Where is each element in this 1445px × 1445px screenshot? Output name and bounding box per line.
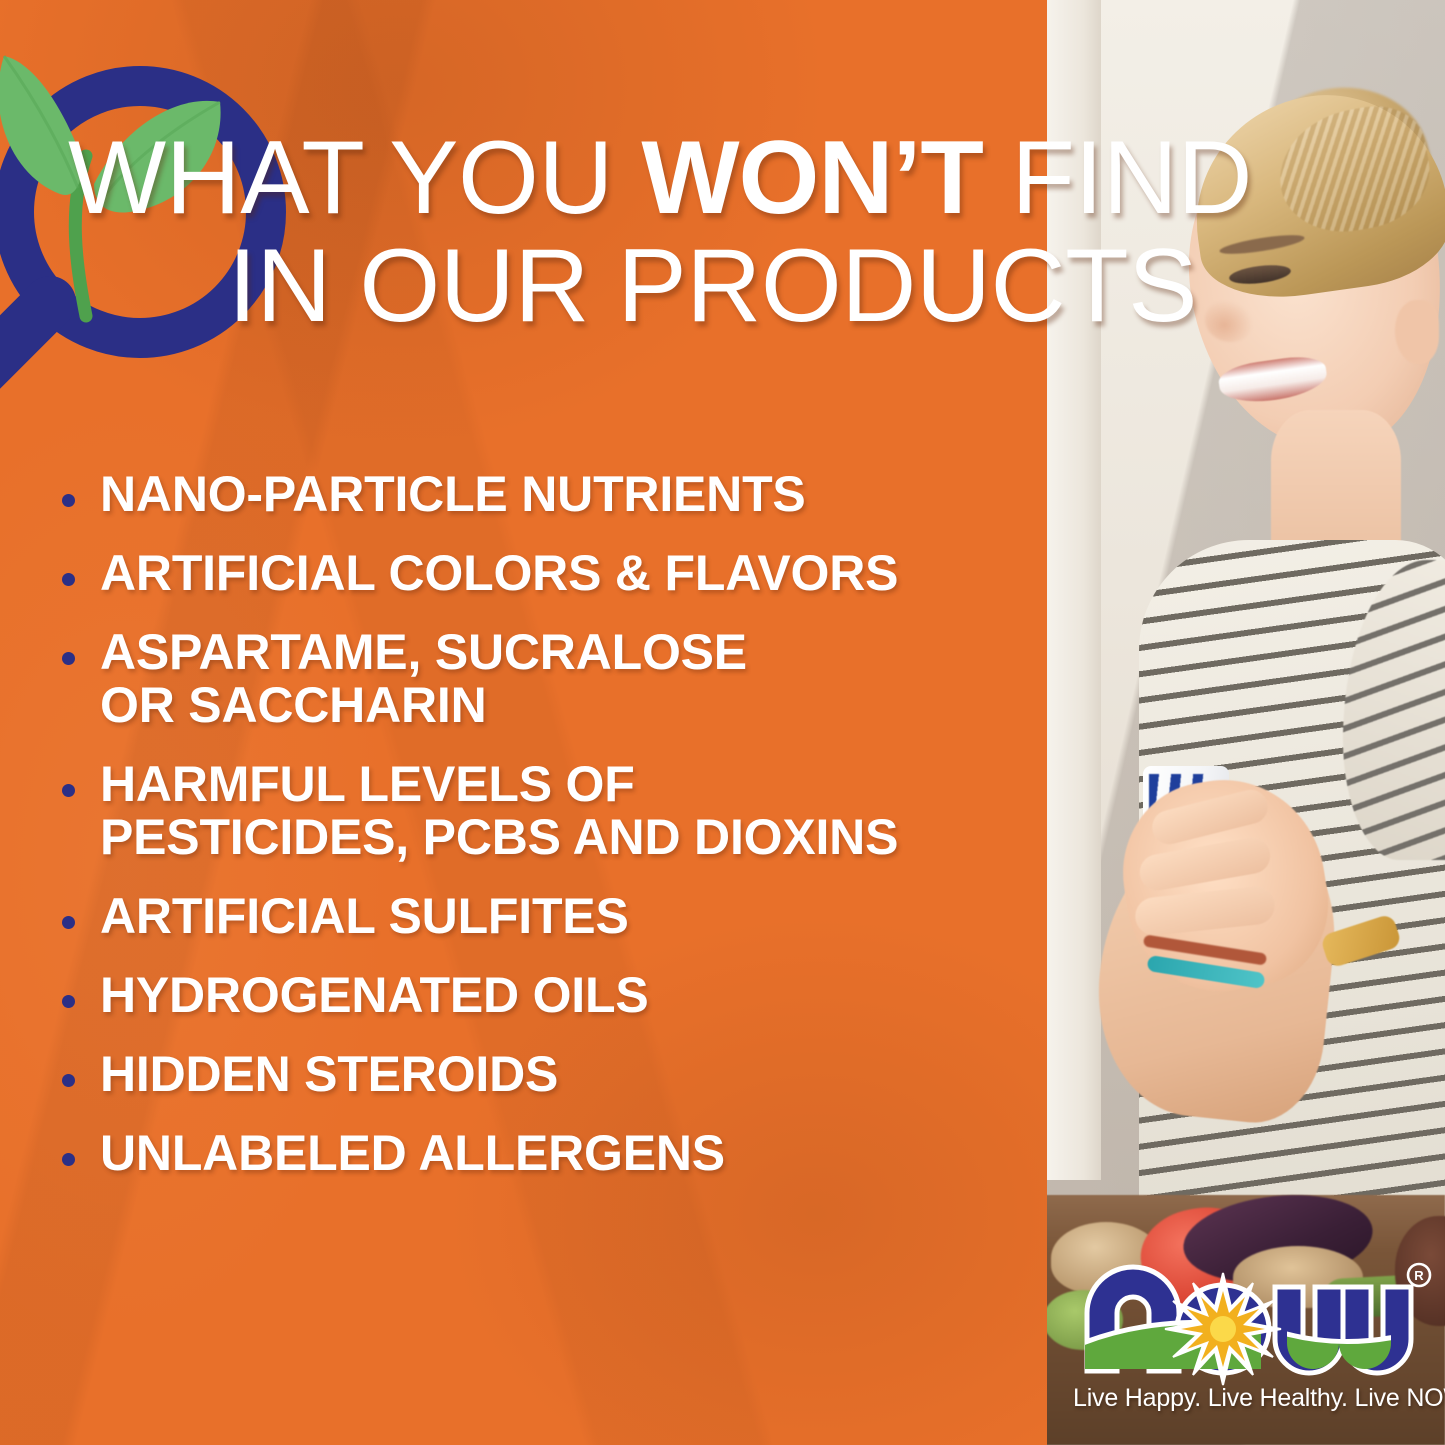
list-item: ARTIFICIAL COLORS & FLAVORS [62,547,1042,600]
list-item-label: HARMFUL LEVELS OF PESTICIDES, PCBS AND D… [100,758,898,864]
list-item: NANO-PARTICLE NUTRIENTS [62,468,1042,521]
list-item-label: NANO-PARTICLE NUTRIENTS [100,468,806,521]
list-item-label: HIDDEN STEROIDS [100,1048,558,1101]
list-item-label: ARTIFICIAL COLORS & FLAVORS [100,547,898,600]
marketing-banner: WHAT YOU WON’T FIND IN OUR PRODUCTS NANO… [0,0,1445,1445]
brand-tagline: Live Happy. Live Healthy. Live NOW. [1073,1384,1433,1413]
headline-part-b: FIND [983,120,1252,236]
now-foods-logo: R Live Happy. Live Healthy. Live NOW. [1073,1251,1433,1421]
list-item: ASPARTAME, SUCRALOSE OR SACCHARIN [62,626,1042,732]
bullet-dot-icon [62,573,75,586]
bullet-dot-icon [62,652,75,665]
registered-trademark-icon: R [1408,1264,1430,1286]
headline-emphasis: WON’T [641,120,983,236]
list-item: HARMFUL LEVELS OF PESTICIDES, PCBS AND D… [62,758,1042,864]
bullet-dot-icon [62,1074,75,1087]
list-item-label: HYDROGENATED OILS [100,969,648,1022]
bullet-dot-icon [62,1153,75,1166]
bullet-dot-icon [62,494,75,507]
now-wordmark: R [1073,1251,1433,1391]
list-item-label: UNLABELED ALLERGENS [100,1127,725,1180]
list-item: HIDDEN STEROIDS [62,1048,1042,1101]
page-title: WHAT YOU WON’T FIND IN OUR PRODUCTS [0,132,1390,333]
excluded-ingredients-list: NANO-PARTICLE NUTRIENTS ARTIFICIAL COLOR… [62,468,1042,1206]
headline-line-1: WHAT YOU WON’T FIND [0,132,1390,226]
bullet-dot-icon [62,784,75,797]
list-item: UNLABELED ALLERGENS [62,1127,1042,1180]
list-item-label: ARTIFICIAL SULFITES [100,890,629,943]
list-item-label: ASPARTAME, SUCRALOSE OR SACCHARIN [100,626,747,732]
bullet-dot-icon [62,995,75,1008]
headline-part-a: WHAT YOU [68,120,641,236]
photo-ear [1395,300,1439,364]
headline-line-2: IN OUR PRODUCTS [0,240,1390,334]
list-item: HYDROGENATED OILS [62,969,1042,1022]
svg-text:R: R [1414,1268,1424,1283]
bullet-dot-icon [62,916,75,929]
list-item: ARTIFICIAL SULFITES [62,890,1042,943]
